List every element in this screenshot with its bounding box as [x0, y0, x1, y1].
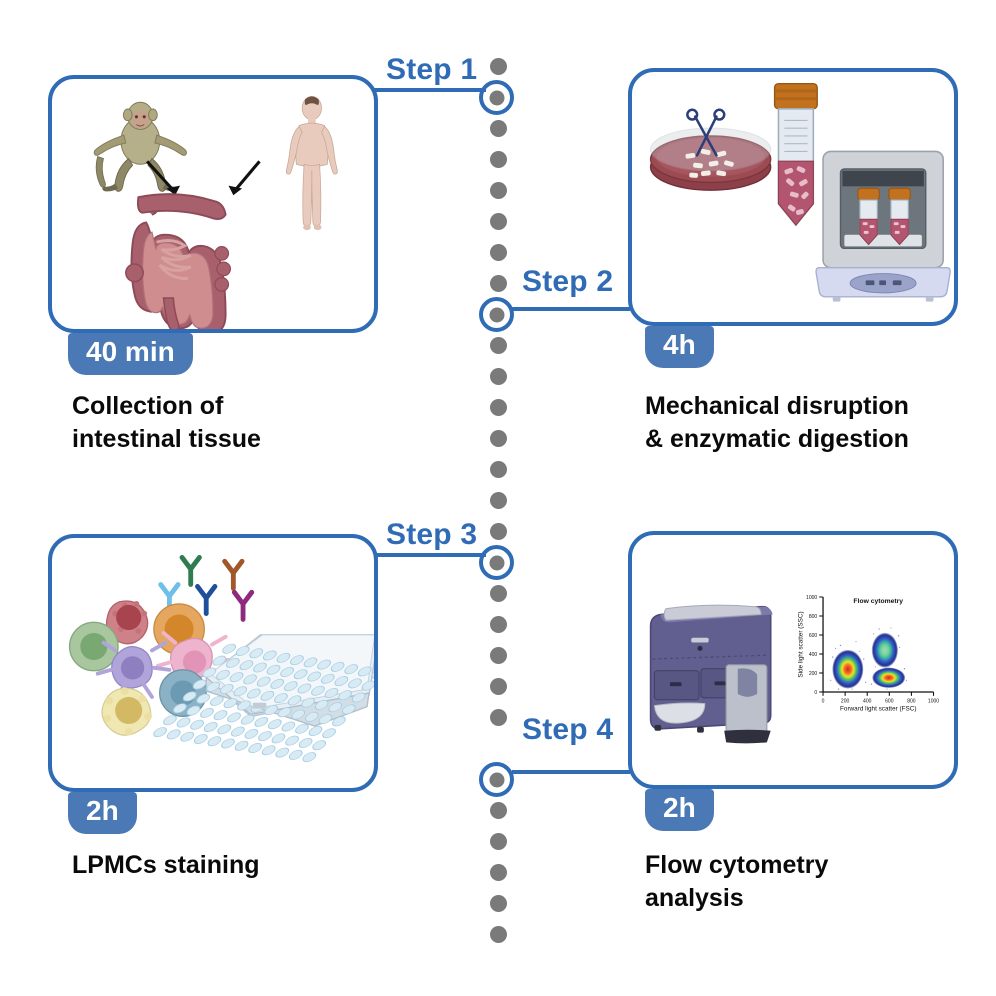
timeline-node-step-2[interactable]	[479, 297, 514, 332]
petri-dish-icon	[651, 110, 771, 190]
step-4-label: Step 4	[522, 713, 613, 747]
intestine-icon	[126, 194, 231, 329]
chart-xtick: 600	[885, 699, 894, 705]
timeline-dot	[490, 461, 507, 478]
step-1-illustration	[52, 79, 374, 329]
conical-tube-icon	[775, 84, 818, 225]
timeline-dot	[490, 492, 507, 509]
step-3-duration-badge: 2h	[68, 792, 137, 834]
timeline-dot	[490, 647, 507, 664]
timeline-dot	[490, 523, 507, 540]
timeline-dot	[490, 864, 507, 881]
timeline-dot	[490, 585, 507, 602]
connector-step-3	[374, 553, 486, 559]
timeline-dot	[490, 678, 507, 695]
timeline-dot	[490, 802, 507, 819]
chart-title: Flow cytometry	[853, 598, 903, 605]
step-1-duration-badge: 40 min	[68, 333, 193, 375]
timeline-dot	[490, 213, 507, 230]
chart-xtick: 800	[907, 699, 916, 705]
timeline-dot	[490, 275, 507, 292]
step-3-caption: LPMCs staining	[72, 849, 382, 882]
scatter-plot-icon: Flow cytometry Side light scatter (SSC) …	[790, 587, 945, 732]
chart-ytick: 0	[814, 690, 817, 696]
step-4-illustration: Flow cytometry Side light scatter (SSC) …	[632, 535, 954, 785]
step-4-duration-badge: 2h	[645, 789, 714, 831]
shaking-incubator-icon	[816, 151, 950, 301]
timeline-dot	[490, 244, 507, 261]
step-3-illustration	[52, 538, 374, 788]
timeline-dot	[490, 430, 507, 447]
chart-xtick: 400	[863, 699, 872, 705]
timeline-node-step-1[interactable]	[479, 80, 514, 115]
chart-ytick: 600	[809, 633, 818, 639]
step-3-panel[interactable]	[48, 534, 378, 792]
timeline-dot	[490, 182, 507, 199]
timeline-node-step-4[interactable]	[479, 762, 514, 797]
flow-cytometer-icon	[651, 605, 773, 743]
timeline-dot	[490, 120, 507, 137]
timeline-dot	[490, 368, 507, 385]
step-3-label: Step 3	[386, 518, 477, 552]
step-2-illustration	[632, 72, 954, 322]
step-1-panel[interactable]	[48, 75, 378, 333]
monkey-icon	[94, 102, 186, 191]
human-body-icon	[286, 96, 337, 230]
step-2-label: Step 2	[522, 265, 613, 299]
timeline-dot	[490, 58, 507, 75]
step-4-panel[interactable]: Flow cytometry Side light scatter (SSC) …	[628, 531, 958, 789]
timeline-dot	[490, 926, 507, 943]
chart-ytick: 800	[809, 614, 818, 620]
connector-step-2	[512, 307, 630, 313]
chart-ytick: 1000	[806, 595, 817, 601]
step-2-duration-badge: 4h	[645, 326, 714, 368]
timeline-node-step-3[interactable]	[479, 545, 514, 580]
connector-step-4	[512, 770, 630, 776]
timeline-dot	[490, 709, 507, 726]
arrow-down-left-icon	[229, 161, 260, 195]
connector-step-1	[374, 88, 486, 94]
step-2-caption: Mechanical disruption & enzymatic digest…	[645, 390, 965, 455]
timeline-dot	[490, 337, 507, 354]
timeline-dot	[490, 616, 507, 633]
timeline-dot	[490, 399, 507, 416]
step-2-panel[interactable]	[628, 68, 958, 326]
chart-ylabel: Side light scatter (SSC)	[798, 611, 805, 677]
step-4-caption: Flow cytometry analysis	[645, 849, 965, 914]
timeline-dot	[490, 151, 507, 168]
chart-xtick: 0	[822, 699, 825, 705]
chart-xtick: 1000	[928, 699, 939, 705]
chart-xtick: 200	[841, 699, 850, 705]
timeline-dot	[490, 833, 507, 850]
timeline	[483, 52, 515, 952]
chart-ytick: 200	[809, 671, 818, 677]
chart-ytick: 400	[809, 652, 818, 658]
step-1-label: Step 1	[386, 53, 477, 87]
timeline-dot	[490, 895, 507, 912]
step-1-caption: Collection of intestinal tissue	[72, 390, 372, 455]
chart-xlabel: Forward light scatter (FSC)	[840, 705, 917, 712]
